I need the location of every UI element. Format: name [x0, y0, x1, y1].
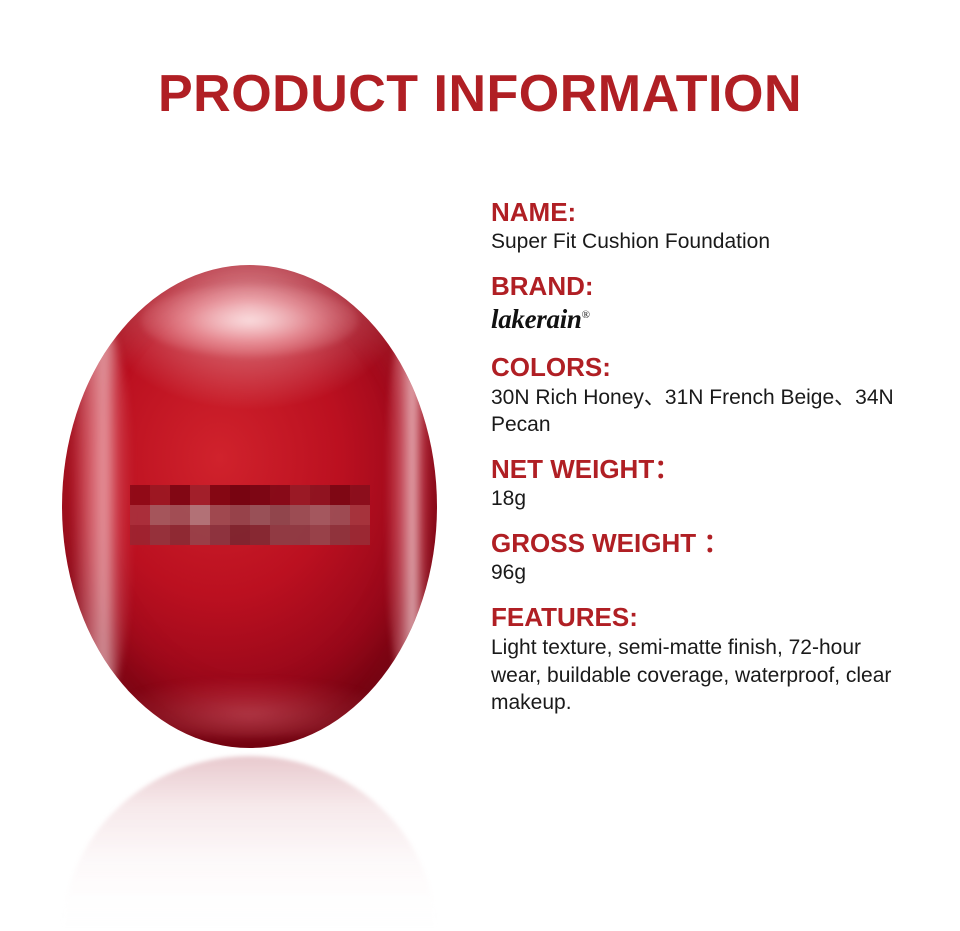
mosaic-tile	[350, 525, 370, 545]
spec-block: BRAND:lakerain®	[491, 270, 911, 337]
spec-label: BRAND:	[491, 270, 911, 303]
specular-highlight-top-icon	[141, 284, 359, 356]
spec-label: GROSS WEIGHT ：	[491, 527, 911, 560]
censored-logo-mosaic	[130, 485, 370, 545]
mosaic-tile	[230, 485, 250, 505]
mosaic-tile	[310, 505, 330, 525]
product-information-page: PRODUCT INFORMATION NAME:Super Fit Cushi…	[0, 0, 960, 931]
mosaic-tile	[210, 485, 230, 505]
mosaic-tile	[330, 485, 350, 505]
mosaic-tile	[130, 485, 150, 505]
spec-value: 96g	[491, 560, 911, 587]
spec-value: Light texture, semi-matte finish, 72-hou…	[491, 634, 911, 716]
spec-value: 30N Rich Honey、31N French Beige、34N Peca…	[491, 384, 911, 439]
mosaic-tile	[250, 485, 270, 505]
mosaic-tile	[190, 525, 210, 545]
spec-sheet: NAME:Super Fit Cushion FoundationBRAND:l…	[491, 196, 911, 716]
mosaic-tile	[130, 525, 150, 545]
mosaic-tile	[150, 485, 170, 505]
spec-block: NET WEIGHT：18g	[491, 453, 911, 513]
spec-block: FEATURES:Light texture, semi-matte finis…	[491, 601, 911, 716]
spec-block: GROSS WEIGHT ：96g	[491, 527, 911, 587]
spec-block: NAME:Super Fit Cushion Foundation	[491, 196, 911, 256]
mosaic-tile	[290, 505, 310, 525]
spec-block: COLORS:30N Rich Honey、31N French Beige、3…	[491, 351, 911, 439]
product-image	[55, 258, 445, 908]
mosaic-tile	[210, 505, 230, 525]
mosaic-tile	[150, 505, 170, 525]
mosaic-tile	[250, 525, 270, 545]
mosaic-tile	[270, 505, 290, 525]
spec-value: Super Fit Cushion Foundation	[491, 229, 911, 256]
mosaic-tile	[290, 485, 310, 505]
mosaic-tile	[330, 505, 350, 525]
specular-highlight-bottom-icon	[115, 680, 385, 738]
mosaic-tile	[310, 525, 330, 545]
spec-value: 18g	[491, 486, 911, 513]
mosaic-tile	[290, 525, 310, 545]
mosaic-tile	[190, 505, 210, 525]
page-title: PRODUCT INFORMATION	[0, 68, 960, 120]
cushion-compact-shell	[62, 265, 437, 748]
mosaic-tile	[350, 505, 370, 525]
mosaic-tile	[230, 525, 250, 545]
spec-label: COLORS:	[491, 351, 911, 384]
mosaic-tile	[350, 485, 370, 505]
brand-logotype: lakerain®	[491, 303, 911, 336]
specular-highlight-left-icon	[70, 323, 134, 700]
brand-name: lakerain	[491, 304, 582, 334]
product-reflection	[62, 756, 437, 931]
specular-highlight-right-icon	[385, 313, 434, 699]
mosaic-tile	[170, 505, 190, 525]
mosaic-tile	[230, 505, 250, 525]
mosaic-tile	[210, 525, 230, 545]
mosaic-tile	[130, 505, 150, 525]
mosaic-tile	[250, 505, 270, 525]
mosaic-tile	[170, 485, 190, 505]
mosaic-tile	[330, 525, 350, 545]
mosaic-tile	[170, 525, 190, 545]
registered-trademark-icon: ®	[582, 309, 590, 321]
spec-label: NAME:	[491, 196, 911, 229]
mosaic-tile	[190, 485, 210, 505]
mosaic-tile	[270, 525, 290, 545]
spec-label: FEATURES:	[491, 601, 911, 634]
mosaic-tile	[270, 485, 290, 505]
mosaic-tile	[150, 525, 170, 545]
mosaic-tile	[310, 485, 330, 505]
spec-label: NET WEIGHT：	[491, 453, 911, 486]
